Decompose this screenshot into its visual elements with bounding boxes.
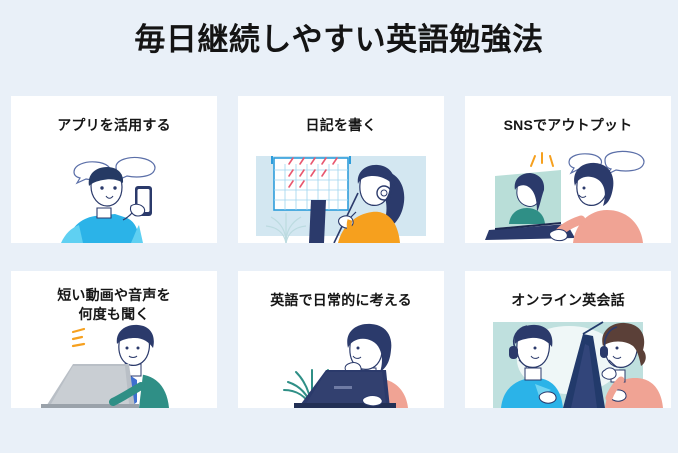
card-title-online-lesson: オンライン英会話: [465, 271, 671, 310]
illustration-two-people-headsets: [465, 320, 671, 408]
illustration-businessman-laptop: [11, 320, 217, 408]
cards-grid: アプリを活用する: [11, 96, 667, 408]
card-sns[interactable]: SNSでアウトプット: [465, 96, 671, 243]
card-title-sns: SNSでアウトプット: [465, 96, 671, 135]
card-short-video[interactable]: 短い動画や音声を 何度も聞く: [11, 271, 217, 408]
illustration-woman-with-calendar: [238, 148, 444, 243]
card-diary[interactable]: 日記を書く: [238, 96, 444, 243]
card-title-diary: 日記を書く: [238, 96, 444, 135]
illustration-woman-laptop-videocall: [465, 148, 671, 243]
card-title-think-in-english: 英語で日常的に考える: [238, 271, 444, 310]
infographic-page: 毎日継続しやすい英語勉強法 アプリを活用する: [0, 0, 678, 453]
card-title-app: アプリを活用する: [11, 96, 217, 135]
illustration-man-with-smartphone: [11, 148, 217, 243]
card-online-lesson[interactable]: オンライン英会話: [465, 271, 671, 408]
card-title-short-video: 短い動画や音声を 何度も聞く: [11, 271, 217, 324]
illustration-woman-thinking-laptop: [238, 320, 444, 408]
card-app[interactable]: アプリを活用する: [11, 96, 217, 243]
card-title-line-1: 短い動画や音声を: [11, 286, 217, 305]
card-think-in-english[interactable]: 英語で日常的に考える: [238, 271, 444, 408]
page-title: 毎日継続しやすい英語勉強法: [0, 22, 678, 58]
